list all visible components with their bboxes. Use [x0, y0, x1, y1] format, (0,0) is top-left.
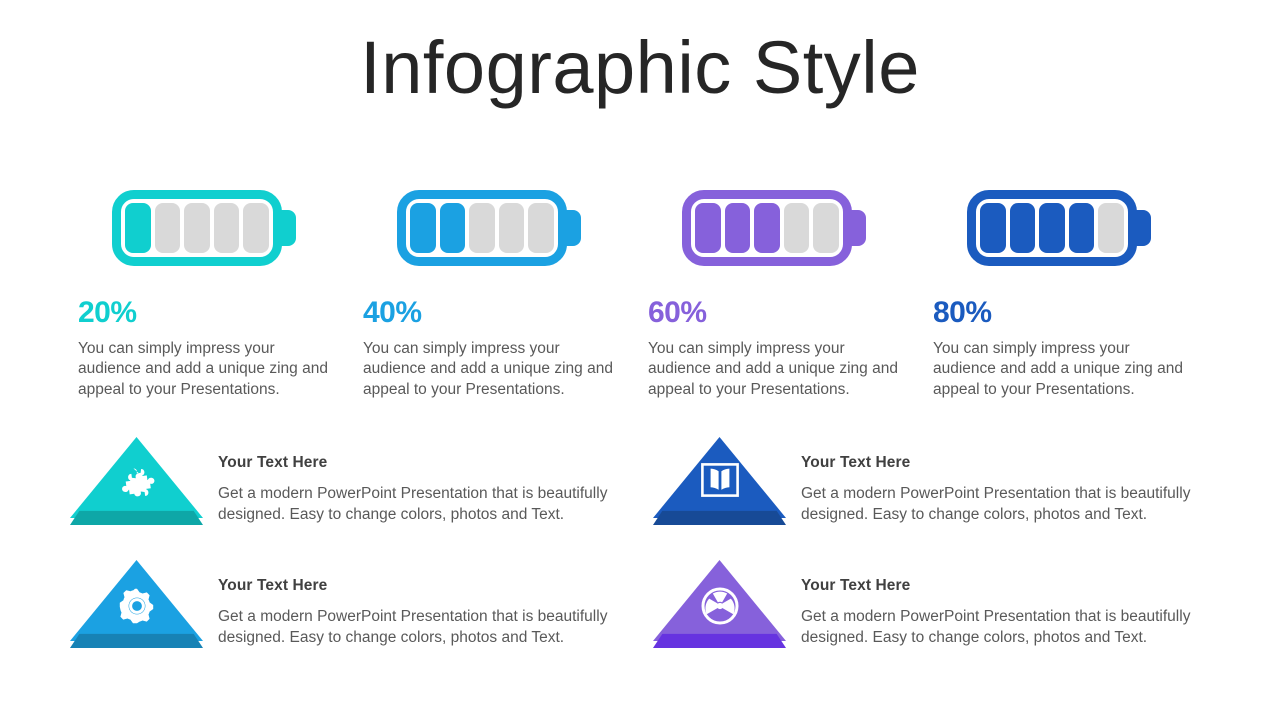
battery-stats-row: 20% You can simply impress your audience… — [70, 190, 1220, 400]
battery-cell-filled — [1039, 203, 1065, 253]
feature-item: Your Text Here Get a modern PowerPoint P… — [653, 437, 1211, 525]
triangle-badge — [653, 560, 786, 648]
feature-item: Your Text Here Get a modern PowerPoint P… — [653, 560, 1211, 648]
feature-text: Your Text Here Get a modern PowerPoint P… — [218, 437, 628, 525]
battery-icon — [967, 190, 1157, 272]
battery-terminal-nub — [280, 210, 296, 246]
battery-icon — [112, 190, 302, 272]
radiation-icon — [653, 586, 786, 631]
battery-terminal-nub — [1135, 210, 1151, 246]
battery-cell-empty — [1098, 203, 1124, 253]
battery-cells — [410, 203, 554, 253]
feature-item: Your Text Here Get a modern PowerPoint P… — [70, 560, 628, 648]
percent-description: You can simply impress your audience and… — [933, 339, 1185, 400]
triangle-badge — [70, 437, 203, 525]
feature-text: Your Text Here Get a modern PowerPoint P… — [801, 560, 1211, 648]
battery-cell-filled — [695, 203, 721, 253]
battery-cell-filled — [725, 203, 751, 253]
feature-title: Your Text Here — [801, 454, 1211, 472]
battery-stat-card: 40% You can simply impress your audience… — [355, 190, 640, 400]
battery-cell-empty — [214, 203, 240, 253]
battery-cell-empty — [813, 203, 839, 253]
battery-cell-empty — [155, 203, 181, 253]
percent-description: You can simply impress your audience and… — [648, 339, 900, 400]
battery-cells — [980, 203, 1124, 253]
battery-cell-filled — [1010, 203, 1036, 253]
battery-cells — [125, 203, 269, 253]
battery-cell-empty — [499, 203, 525, 253]
battery-cell-filled — [125, 203, 151, 253]
gear-icon — [70, 586, 203, 631]
open-book-icon — [653, 463, 786, 502]
feature-description: Get a modern PowerPoint Presentation tha… — [801, 607, 1211, 648]
percent-label: 60% — [648, 296, 925, 330]
battery-stat-card: 80% You can simply impress your audience… — [925, 190, 1210, 400]
percent-label: 80% — [933, 296, 1210, 330]
battery-cell-filled — [1069, 203, 1095, 253]
battery-terminal-nub — [850, 210, 866, 246]
battery-stat-card: 20% You can simply impress your audience… — [70, 190, 355, 400]
triangle-badge — [653, 437, 786, 525]
feature-description: Get a modern PowerPoint Presentation tha… — [218, 484, 628, 525]
battery-cell-empty — [528, 203, 554, 253]
page-title: Infographic Style — [0, 24, 1280, 113]
battery-cell-empty — [243, 203, 269, 253]
feature-title: Your Text Here — [218, 577, 628, 595]
battery-cell-filled — [754, 203, 780, 253]
percent-label: 40% — [363, 296, 640, 330]
battery-cells — [695, 203, 839, 253]
feature-description: Get a modern PowerPoint Presentation tha… — [801, 484, 1211, 525]
battery-cell-empty — [184, 203, 210, 253]
battery-cell-empty — [469, 203, 495, 253]
percent-label: 20% — [78, 296, 355, 330]
battery-stat-card: 60% You can simply impress your audience… — [640, 190, 925, 400]
feature-description: Get a modern PowerPoint Presentation tha… — [218, 607, 628, 648]
percent-description: You can simply impress your audience and… — [78, 339, 330, 400]
feature-text: Your Text Here Get a modern PowerPoint P… — [218, 560, 628, 648]
feature-text: Your Text Here Get a modern PowerPoint P… — [801, 437, 1211, 525]
battery-cell-filled — [440, 203, 466, 253]
feature-title: Your Text Here — [801, 577, 1211, 595]
battery-cell-filled — [980, 203, 1006, 253]
triangle-badge — [70, 560, 203, 648]
battery-terminal-nub — [565, 210, 581, 246]
percent-description: You can simply impress your audience and… — [363, 339, 615, 400]
battery-icon — [397, 190, 587, 272]
puzzle-piece-icon — [70, 463, 203, 508]
battery-cell-filled — [410, 203, 436, 253]
battery-cell-empty — [784, 203, 810, 253]
battery-icon — [682, 190, 872, 272]
feature-title: Your Text Here — [218, 454, 628, 472]
feature-item: Your Text Here Get a modern PowerPoint P… — [70, 437, 628, 525]
